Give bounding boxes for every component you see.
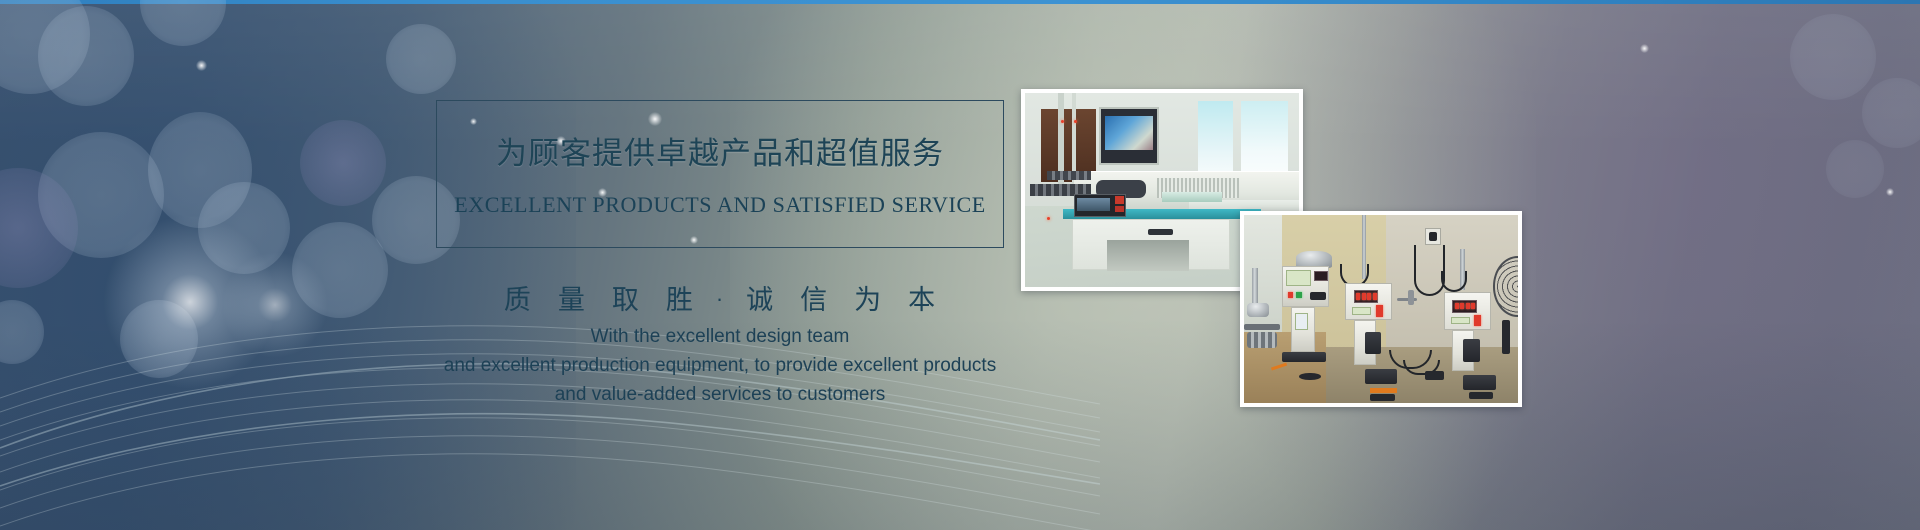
- description-line-2: and excellent production equipment, to p…: [320, 351, 1120, 380]
- description-line-1: With the excellent design team: [320, 322, 1120, 351]
- promo-banner: 为顾客提供卓越产品和超值服务 EXCELLENT PRODUCTS AND SA…: [0, 0, 1920, 530]
- slogan-char: 为: [854, 285, 882, 315]
- description-paragraph: With the excellent design team and excel…: [320, 322, 1120, 409]
- description-line-3: and value-added services to customers: [320, 380, 1120, 409]
- banner-text-block: 为顾客提供卓越产品和超值服务 EXCELLENT PRODUCTS AND SA…: [0, 0, 1200, 530]
- slogan-char: 量: [558, 285, 586, 315]
- slogan-char: 本: [908, 285, 936, 315]
- headline-frame: [436, 100, 1004, 248]
- slogan-char: 胜: [666, 285, 694, 315]
- slogan-separator: ·: [716, 286, 724, 311]
- press-machines-workshop-photo: [1240, 211, 1522, 407]
- slogan-chinese: 质量取胜·诚信为本: [436, 278, 1004, 317]
- slogan-char: 质: [504, 285, 532, 315]
- slogan-char: 取: [612, 285, 640, 315]
- headline-chinese: 为顾客提供卓越产品和超值服务: [436, 128, 1004, 173]
- headline-english: EXCELLENT PRODUCTS AND SATISFIED SERVICE: [436, 192, 1004, 218]
- slogan-char: 信: [800, 285, 828, 315]
- slogan-char: 诚: [746, 285, 774, 315]
